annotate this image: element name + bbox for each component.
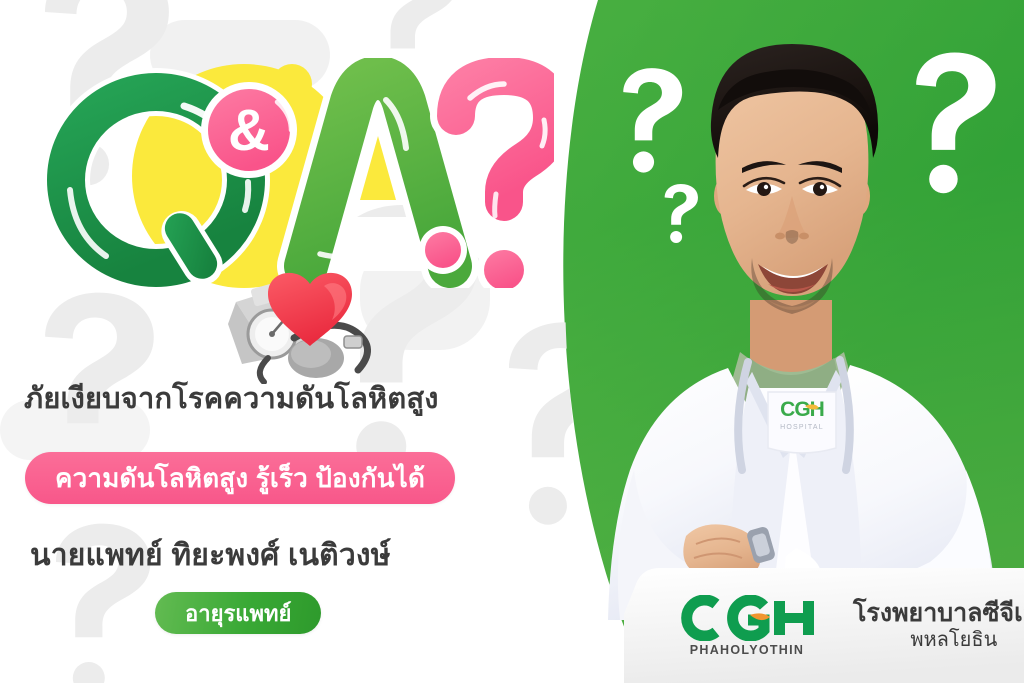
banner-canvas: CGH HOSPITAL	[0, 0, 1024, 683]
cgh-sublabel: PHAHOLYOTHIN	[690, 643, 804, 657]
footer-logo-bar: PHAHOLYOTHIN โรงพยาบาลซีจีเอช พหลโยธิน	[624, 568, 1024, 683]
specialty-badge: อายุรแพทย์	[155, 592, 321, 634]
doctor-name-text: นายแพทย์ ทิยะพงศ์ เนติวงษ์	[30, 532, 550, 579]
cgh-wordmark-icon	[676, 595, 818, 641]
ampersand-glyph: &	[228, 98, 270, 163]
specialty-badge-label: อายุรแพทย์	[185, 596, 291, 631]
headline-text: ภัยเงียบจากโรคความดันโลหิตสูง	[24, 381, 544, 418]
coat-cgh-logo-icon: CGH HOSPITAL	[780, 398, 824, 431]
footer-hospital-name: โรงพยาบาลซีจีเอช พหลโยธิน	[853, 599, 1024, 653]
subheadline-pill: ความดันโลหิตสูง รู้เร็ว ป้องกันได้	[25, 452, 455, 504]
footer-hospital-thai: โรงพยาบาลซีจีเอช	[853, 599, 1024, 628]
cgh-logo: PHAHOLYOTHIN	[676, 595, 818, 657]
heart-bp-illustration	[208, 262, 414, 384]
period-dot	[419, 226, 467, 274]
ampersand-badge: &	[201, 82, 297, 178]
footer-branch-thai: พหลโยธิน	[910, 628, 997, 652]
subheadline-text: ความดันโลหิตสูง รู้เร็ว ป้องกันได้	[55, 458, 425, 499]
qa-logo: &	[34, 58, 554, 288]
doctor-portrait: CGH HOSPITAL	[600, 0, 1024, 620]
svg-text:HOSPITAL: HOSPITAL	[780, 424, 824, 431]
svg-text:CGH: CGH	[780, 398, 824, 421]
